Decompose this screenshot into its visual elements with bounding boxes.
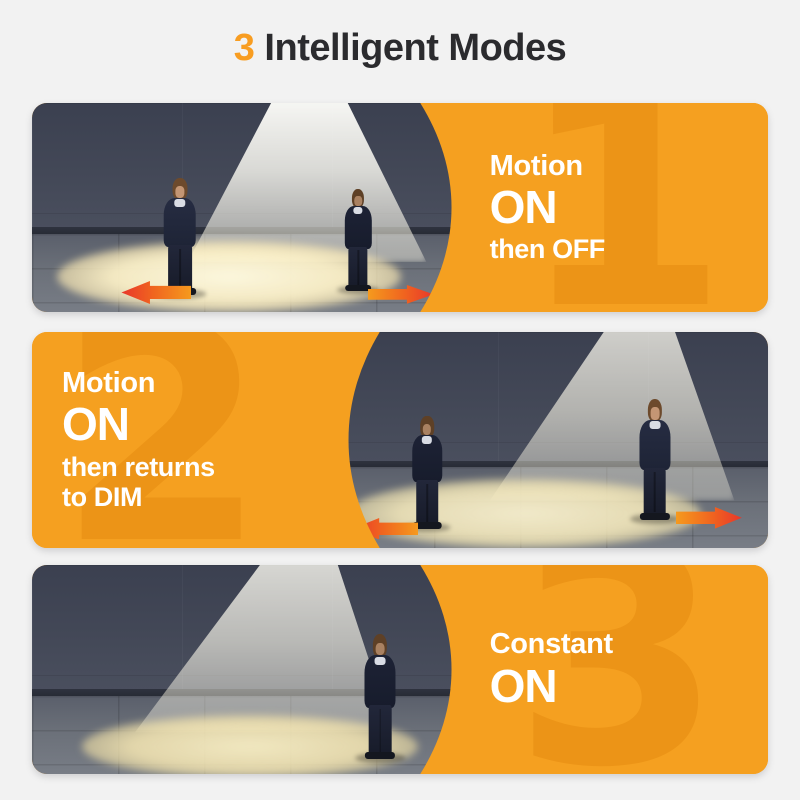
panel-3-text-block: Constant ON [474, 565, 768, 774]
figure-collar [422, 436, 432, 444]
arrow-left-into-light [120, 281, 191, 304]
page-title-text: 3 Intelligent Modes [234, 27, 567, 70]
page-title: 3 Intelligent Modes [0, 0, 800, 96]
figure-man-in-spotlight [158, 178, 202, 295]
figure-collar [649, 421, 660, 429]
mode-panel-3[interactable]: 3 Constant [32, 565, 768, 774]
panel-2-line-4: to DIM [62, 482, 142, 512]
panel-1-line-1: Motion [490, 151, 583, 182]
figure-legs [416, 480, 438, 525]
figure-face [650, 407, 659, 419]
figure-face [376, 643, 385, 656]
mode-panel-2[interactable]: 2 [32, 332, 768, 548]
figure-shoes [640, 513, 670, 520]
panel-2-line-1: Motion [62, 368, 155, 399]
panel-2-line-3: then returns [62, 452, 215, 482]
figure-shoes [365, 752, 395, 760]
figure-man-in-shadow [359, 634, 401, 759]
figure-collar [375, 657, 386, 666]
figure-collar [174, 199, 185, 207]
panel-1-text-block: Motion ON then OFF [474, 103, 768, 312]
arrow-right-into-light [676, 507, 743, 529]
figure-man-in-spotlight [634, 399, 676, 520]
panel-1-line-3: then OFF [490, 234, 605, 264]
arrow-right-away [368, 285, 435, 304]
page-title-label: Intelligent Modes [264, 27, 566, 69]
panel-3-scene [32, 565, 452, 774]
arrow-left-away [351, 518, 418, 540]
panel-3-line-1: Constant [490, 629, 613, 660]
figure-collar [354, 207, 363, 214]
figure-legs [643, 468, 666, 516]
figure-face [175, 186, 184, 198]
page-title-spacer [254, 27, 264, 69]
page-title-number: 3 [234, 27, 255, 69]
panel-2-scene [348, 332, 768, 548]
infographic-root: 3 Intelligent Modes 1 [0, 0, 800, 800]
panel-1-scene [32, 103, 452, 312]
figure-man-in-shadow [407, 416, 447, 528]
mode-panel-1[interactable]: 1 [32, 103, 768, 312]
panel-1-line-2: ON [490, 183, 557, 231]
figure-man-in-shadow [340, 189, 376, 291]
panel-2-text-block: Motion ON then returns to DIM [32, 332, 326, 548]
panel-2-line-2: ON [62, 400, 129, 448]
panel-3-line-2: ON [490, 662, 557, 710]
figure-legs [369, 705, 392, 755]
figure-face [423, 424, 431, 435]
figure-legs [349, 247, 368, 288]
